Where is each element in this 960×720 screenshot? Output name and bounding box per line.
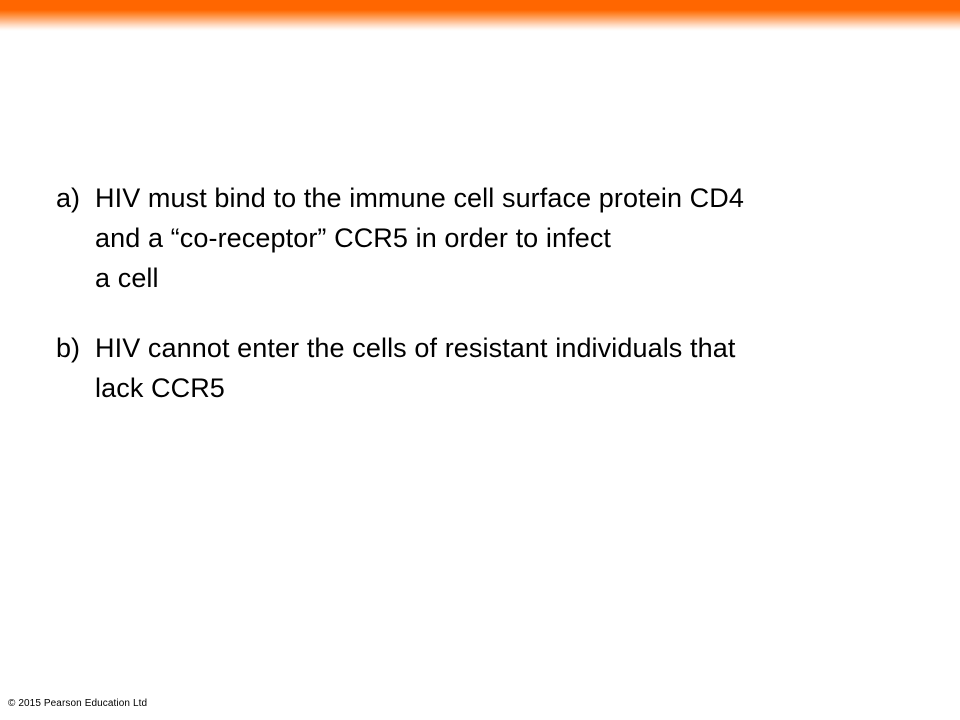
slide-canvas: a) HIV must bind to the immune cell surf… bbox=[0, 0, 960, 720]
list-item-line: HIV cannot enter the cells of resistant … bbox=[95, 328, 946, 368]
list-item-line: lack CCR5 bbox=[95, 368, 946, 408]
copyright-footer: © 2015 Pearson Education Ltd bbox=[8, 697, 147, 710]
orange-band-gradient bbox=[0, 10, 960, 31]
orange-band-solid bbox=[0, 0, 960, 10]
list-item-line: and a “co-receptor” CCR5 in order to inf… bbox=[95, 218, 946, 258]
orange-top-band bbox=[0, 0, 960, 32]
list-item-line: HIV must bind to the immune cell surface… bbox=[95, 178, 946, 218]
list-item-marker: a) bbox=[56, 178, 95, 218]
list-item-line: a cell bbox=[95, 258, 946, 298]
list-item-marker: b) bbox=[56, 328, 95, 368]
list-item: b) HIV cannot enter the cells of resista… bbox=[56, 328, 946, 408]
list-item-text: HIV must bind to the immune cell surface… bbox=[95, 178, 946, 298]
list-item-text: HIV cannot enter the cells of resistant … bbox=[95, 328, 946, 408]
slide-body-list: a) HIV must bind to the immune cell surf… bbox=[56, 178, 946, 408]
list-item: a) HIV must bind to the immune cell surf… bbox=[56, 178, 946, 298]
